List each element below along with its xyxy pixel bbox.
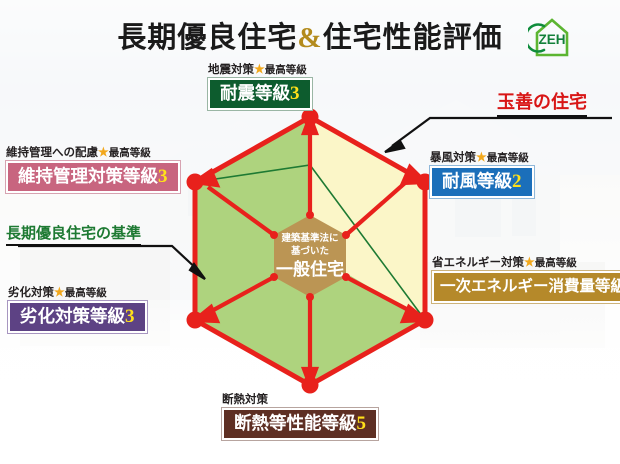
annotation-right-label-underline [497,115,587,117]
vertex-dot-bottom [302,377,319,394]
center-label-line3: 一般住宅 [276,259,344,279]
star-icon: ★ [54,285,65,299]
caption-sub: 最高等級 [487,153,529,164]
annotation-left-label-underline [6,244,141,246]
vertex-dot-upper-left [187,174,204,191]
label-degradation: 劣化対策★最高等級 劣化対策等級3 [8,285,147,333]
header: 長期優良住宅&住宅性能評価 ZEH [0,6,620,58]
title-ampersand: & [297,22,322,54]
label-insulation-value: 断熱等性能等級5 [222,408,378,440]
title-part-2: 住宅性能評価 [323,22,503,54]
star-icon: ★ [524,255,535,269]
center-label-line1: 建築基準法に [280,232,338,244]
label-earthquake-value: 耐震等級3 [208,78,312,110]
value-number: 3 [290,83,300,104]
label-energy-value: 一次エネルギー消費量等級6 [432,271,620,303]
star-icon: ★ [98,145,109,159]
label-earthquake: 地震対策★最高等級 耐震等級3 [208,62,312,110]
value-number: 2 [512,171,522,192]
caption-main: 省エネルギー対策 [432,257,524,269]
page-title: 長期優良住宅&住宅性能評価 [0,14,620,56]
caption-main: 断熱対策 [222,394,268,406]
label-maintenance: 維持管理への配慮★最高等級 維持管理対策等級3 [6,145,180,193]
vertex-dot-top [302,109,319,126]
annotation-left-label: 長期優良住宅の基準 [6,222,141,243]
annotation-right-label: 玉善の住宅 [497,88,587,114]
label-insulation-caption: 断熱対策 [222,392,378,408]
caption-main: 劣化対策 [8,287,54,299]
label-degradation-value: 劣化対策等級3 [8,301,147,333]
value-text: 維持管理対策等級 [18,166,158,186]
caption-sub: 最高等級 [535,258,577,269]
caption-main: 暴風対策 [430,152,476,164]
star-icon: ★ [254,62,265,76]
vertex-dot-lower-right [417,312,434,329]
label-energy-caption: 省エネルギー対策★最高等級 [432,255,620,271]
value-text: 一次エネルギー消費量等級 [440,278,620,295]
zeh-logo: ZEH [528,16,574,58]
center-label-line2: 基づいた [290,245,329,257]
label-energy: 省エネルギー対策★最高等級 一次エネルギー消費量等級6 [432,255,620,303]
value-text: 耐震等級 [220,83,290,103]
caption-sub: 最高等級 [109,148,151,159]
vertex-dot-lower-left [187,312,204,329]
value-text: 断熱等性能等級 [234,413,357,433]
label-wind-caption: 暴風対策★最高等級 [430,150,534,166]
radar-chart: 建築基準法に 基づいた 一般住宅 [150,95,470,405]
value-text: 劣化対策等級 [20,306,125,326]
value-number: 3 [158,166,168,187]
label-degradation-caption: 劣化対策★最高等級 [8,285,147,301]
zeh-logo-text: ZEH [539,32,566,47]
label-maintenance-caption: 維持管理への配慮★最高等級 [6,145,180,161]
caption-sub: 最高等級 [265,65,307,76]
caption-main: 維持管理への配慮 [6,147,98,159]
label-insulation: 断熱対策 断熱等性能等級5 [222,392,378,440]
value-number: 3 [125,306,135,327]
label-wind-value: 耐風等級2 [430,166,534,198]
infographic-root: 長期優良住宅&住宅性能評価 ZEH [0,0,620,464]
label-maintenance-value: 維持管理対策等級3 [6,161,180,193]
caption-sub: 最高等級 [65,288,107,299]
value-text: 耐風等級 [442,171,512,191]
label-earthquake-caption: 地震対策★最高等級 [208,62,312,78]
value-number: 5 [357,413,367,434]
caption-main: 地震対策 [208,64,254,76]
star-icon: ★ [476,150,487,164]
title-part-1: 長期優良住宅 [117,22,297,54]
label-wind: 暴風対策★最高等級 耐風等級2 [430,150,534,198]
